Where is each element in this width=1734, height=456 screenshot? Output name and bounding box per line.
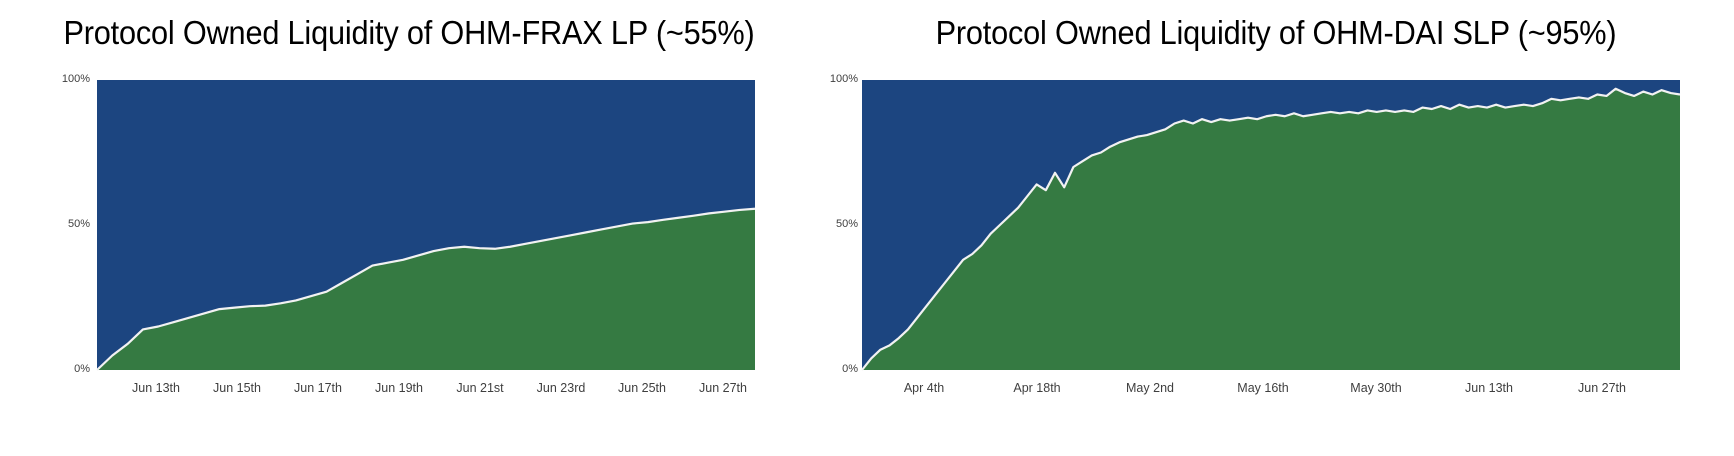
xtick-label-may-30th: May 30th — [1350, 382, 1401, 395]
xtick-label-jun-25th: Jun 25th — [618, 382, 666, 395]
chart-panel-ohm-dai-slp: Protocol Owned Liquidity of OHM-DAI SLP … — [818, 0, 1734, 456]
xtick-label-jun-13th: Jun 13th — [1465, 382, 1513, 395]
ytick-label-50: 50% — [818, 219, 858, 230]
xtick-label-apr-4th: Apr 4th — [904, 382, 944, 395]
plot-area-ohm-dai-slp: 100% 50% 0% Apr 4th Apr 18th May 2nd May… — [818, 0, 1734, 456]
xtick-label-jun-23rd: Jun 23rd — [537, 382, 586, 395]
xtick-label-jun-21st: Jun 21st — [456, 382, 503, 395]
xtick-label-apr-18th: Apr 18th — [1013, 382, 1060, 395]
xtick-label-jun-27th: Jun 27th — [699, 382, 747, 395]
xtick-label-jun-27th: Jun 27th — [1578, 382, 1626, 395]
chart-panel-ohm-frax-lp: Protocol Owned Liquidity of OHM-FRAX LP … — [0, 0, 818, 456]
ytick-label-0: 0% — [40, 364, 90, 375]
xtick-label-jun-13th: Jun 13th — [132, 382, 180, 395]
xtick-label-jun-17th: Jun 17th — [294, 382, 342, 395]
slide-canvas: Protocol Owned Liquidity of OHM-FRAX LP … — [0, 0, 1734, 456]
xtick-label-may-16th: May 16th — [1237, 382, 1288, 395]
ytick-label-50: 50% — [40, 219, 90, 230]
xtick-label-jun-19th: Jun 19th — [375, 382, 423, 395]
ytick-label-100: 100% — [818, 74, 858, 85]
plot-area-ohm-frax-lp: 100% 50% 0% Jun 13th Jun 15th Jun 17th J… — [0, 0, 818, 456]
xtick-label-jun-15th: Jun 15th — [213, 382, 261, 395]
ytick-label-0: 0% — [818, 364, 858, 375]
ytick-label-100: 100% — [40, 74, 90, 85]
xtick-label-may-2nd: May 2nd — [1126, 382, 1174, 395]
